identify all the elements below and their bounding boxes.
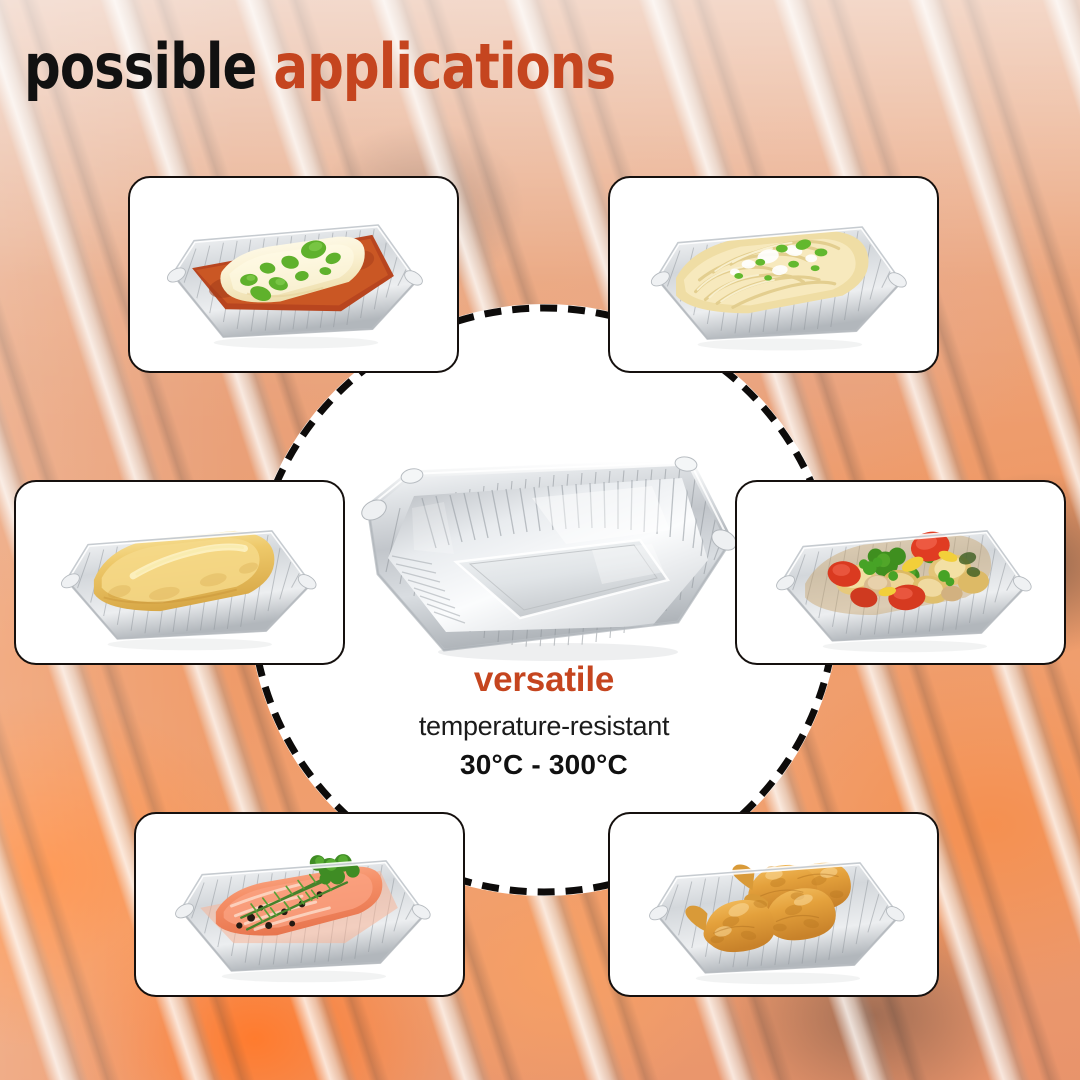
center-text-block: versatile temperature-resistant 30°C - 3… [248, 660, 840, 781]
application-card-salmon[interactable] [134, 812, 465, 997]
cake-photo [16, 482, 343, 663]
application-card-fried-chicken[interactable] [608, 812, 939, 997]
pasta-photo [610, 178, 937, 371]
hero-product-tray [352, 412, 742, 667]
infographic-stage: possible applications [0, 0, 1080, 1080]
vegetables-photo [737, 482, 1064, 663]
lasagna-photo [130, 178, 457, 371]
temperature-resistant-label: temperature-resistant [248, 711, 840, 742]
application-card-lasagna[interactable] [128, 176, 459, 373]
versatile-label: versatile [248, 660, 840, 700]
application-card-pasta[interactable] [608, 176, 939, 373]
temperature-range-label: 30°C - 300°C [248, 749, 840, 781]
page-title: possible applications [24, 36, 615, 98]
title-word-possible: possible [24, 30, 256, 103]
application-card-cake[interactable] [14, 480, 345, 665]
fried-chicken-photo [610, 814, 937, 995]
application-card-vegetables[interactable] [735, 480, 1066, 665]
salmon-photo [136, 814, 463, 995]
title-word-applications: applications [273, 30, 615, 103]
